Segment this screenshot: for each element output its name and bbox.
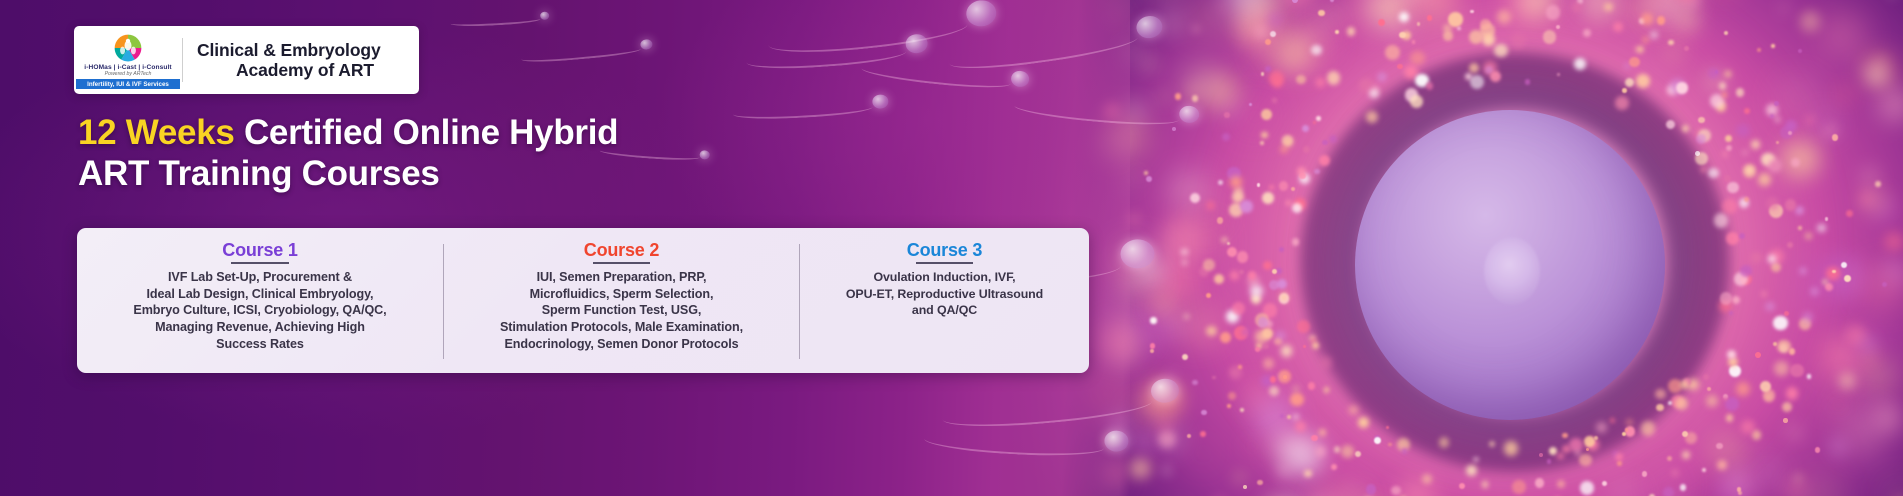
bokeh-dot	[1311, 45, 1322, 56]
bokeh-dot	[1427, 15, 1432, 20]
bokeh-dot	[1604, 3, 1612, 11]
bokeh-dot	[1283, 137, 1292, 146]
bokeh-dot	[1717, 460, 1727, 470]
bokeh-dot	[1162, 14, 1180, 32]
bokeh-dot	[1187, 86, 1199, 98]
bokeh-dot	[1330, 0, 1335, 2]
bokeh-dot	[1798, 226, 1802, 230]
bokeh-dot	[1798, 49, 1802, 53]
course-2-title: Course 2	[584, 240, 659, 264]
bokeh-dot	[1784, 311, 1789, 316]
bokeh-dot	[1682, 431, 1688, 437]
bokeh-dot	[1740, 265, 1752, 277]
bokeh-dot	[1270, 31, 1276, 37]
bokeh-dot	[1466, 465, 1478, 477]
bokeh-dot	[1782, 402, 1792, 412]
bokeh-dot	[1274, 338, 1281, 345]
bokeh-dot	[1835, 84, 1854, 103]
bokeh-dot	[1642, 36, 1649, 43]
bokeh-dot	[1297, 320, 1311, 334]
bokeh-dot	[1708, 168, 1719, 179]
bokeh-dot	[1378, 19, 1385, 26]
bokeh-dot	[1806, 116, 1814, 124]
bokeh-dot	[1358, 417, 1368, 427]
bokeh-dot	[1642, 471, 1647, 476]
bokeh-dot	[1228, 392, 1236, 400]
bokeh-dot	[1134, 434, 1150, 450]
bokeh-dot	[1878, 57, 1885, 64]
bokeh-dot	[1234, 472, 1245, 483]
course-3-title: Course 3	[907, 240, 982, 264]
bokeh-dot	[1293, 386, 1299, 392]
logo-services-bar: Infertility, IUI & IVF Services	[76, 79, 180, 89]
bokeh-dot	[1263, 358, 1274, 369]
bokeh-dot	[1469, 30, 1483, 44]
bokeh-dot	[1862, 168, 1878, 184]
bokeh-dot	[1682, 125, 1689, 132]
bokeh-dot	[1504, 441, 1519, 456]
bokeh-dot	[1255, 347, 1260, 352]
bokeh-dot	[1388, 443, 1392, 447]
bokeh-dot	[1546, 5, 1561, 20]
bokeh-dot	[1539, 453, 1543, 457]
bokeh-dot	[1153, 294, 1173, 314]
bokeh-dot	[1810, 287, 1819, 296]
headline-weeks: 12 Weeks	[78, 113, 235, 152]
bokeh-dot	[1374, 437, 1381, 444]
bokeh-dot	[1299, 173, 1306, 180]
bokeh-dot	[1651, 32, 1657, 38]
course-body-line: Stimulation Protocols, Male Examination,	[500, 319, 743, 336]
bokeh-dot	[1290, 393, 1303, 406]
bokeh-dot	[1703, 374, 1709, 380]
bokeh-dot	[1625, 428, 1629, 432]
bokeh-dot	[1641, 13, 1653, 25]
bokeh-dot	[1846, 210, 1853, 217]
bokeh-dot	[1269, 280, 1279, 290]
bokeh-dot	[1281, 345, 1293, 357]
bokeh-dot	[1720, 292, 1733, 305]
bokeh-dot	[1287, 415, 1291, 419]
bokeh-dot	[1410, 51, 1425, 66]
bokeh-dot	[1715, 70, 1718, 73]
bokeh-dot	[1861, 337, 1876, 352]
bokeh-dot	[1292, 238, 1300, 246]
bokeh-dot	[1832, 270, 1836, 274]
bokeh-dot	[1775, 117, 1780, 122]
bokeh-dot	[1262, 328, 1272, 338]
bokeh-dot	[1860, 192, 1874, 206]
bokeh-dot	[1655, 389, 1665, 399]
bokeh-dot	[1761, 291, 1767, 297]
bokeh-dot	[1482, 481, 1489, 488]
bokeh-dot	[1470, 75, 1485, 90]
bokeh-dot	[1489, 441, 1495, 447]
course-column-2[interactable]: Course 2 IUI, Semen Preparation, PRP,Mic…	[444, 228, 799, 373]
bokeh-dot	[1817, 224, 1826, 233]
course-body-line: Microfluidics, Sperm Selection,	[500, 286, 743, 303]
bokeh-dot	[1331, 464, 1337, 470]
bokeh-dot	[1402, 448, 1408, 454]
bokeh-dot	[1269, 185, 1274, 190]
bokeh-dot	[1295, 421, 1306, 432]
bokeh-dot	[1293, 414, 1299, 420]
bokeh-dot	[1158, 431, 1176, 449]
bokeh-dot	[1622, 432, 1626, 436]
bokeh-dot	[1736, 124, 1749, 137]
bokeh-dot	[1512, 480, 1526, 494]
bokeh-dot	[1834, 400, 1843, 409]
courses-panel: Course 1 IVF Lab Set-Up, Procurement &Id…	[77, 228, 1089, 373]
bokeh-dot	[1758, 173, 1771, 186]
bokeh-dot	[1702, 468, 1706, 472]
bokeh-dot	[1676, 82, 1688, 94]
bokeh-dot	[1159, 421, 1171, 433]
bokeh-dot	[1696, 134, 1706, 144]
logo-title-line1: Clinical & Embryology	[197, 40, 419, 60]
bokeh-dot	[1469, 63, 1479, 73]
bokeh-dot	[1575, 450, 1581, 456]
bokeh-dot	[1727, 182, 1739, 194]
bokeh-dot	[1755, 352, 1761, 358]
course-body-line: Embryo Culture, ICSI, Cryobiology, QA/QC…	[133, 302, 386, 319]
bokeh-dot	[1272, 98, 1277, 103]
bokeh-dot	[1410, 95, 1423, 108]
bokeh-dot	[1773, 342, 1777, 346]
bokeh-dot	[1399, 12, 1409, 22]
bokeh-dot	[1240, 408, 1245, 413]
bokeh-dot	[1386, 426, 1389, 429]
bokeh-dot	[1227, 247, 1237, 257]
bokeh-dot	[1399, 32, 1406, 39]
bokeh-dot	[1283, 375, 1287, 379]
bokeh-dot	[1261, 132, 1268, 139]
headline-hybrid: Hybrid	[509, 113, 618, 152]
bokeh-dot	[1684, 46, 1689, 51]
bokeh-dot	[1480, 19, 1490, 29]
bokeh-dot	[1844, 275, 1851, 282]
bokeh-dot	[1774, 361, 1789, 376]
course-body-line: OPU-ET, Reproductive Ultrasound	[846, 286, 1043, 303]
globe-people-icon	[111, 33, 145, 63]
bokeh-dot	[1167, 313, 1187, 333]
bokeh-dot	[1525, 79, 1531, 85]
bokeh-dot	[1622, 88, 1627, 93]
bokeh-dot	[1773, 316, 1788, 331]
bokeh-dot	[1610, 418, 1615, 423]
bokeh-dot	[1826, 267, 1840, 281]
bokeh-dot	[1706, 395, 1718, 407]
bokeh-dot	[1182, 260, 1187, 265]
bokeh-dot	[1572, 2, 1582, 12]
bokeh-dot	[1791, 158, 1800, 167]
bokeh-dot	[1218, 180, 1223, 185]
bokeh-dot	[1391, 486, 1401, 496]
course-2-body: IUI, Semen Preparation, PRP,Microfluidic…	[500, 269, 743, 353]
bokeh-dot	[1144, 171, 1148, 175]
bokeh-dot	[1459, 483, 1465, 489]
bokeh-dot	[1822, 279, 1828, 285]
bokeh-dot	[1355, 451, 1361, 457]
bokeh-dot	[1187, 434, 1191, 438]
bokeh-dot	[1586, 448, 1589, 451]
bokeh-dot	[1770, 114, 1774, 118]
bokeh-dot	[1866, 64, 1887, 85]
bokeh-dot	[1292, 203, 1302, 213]
bokeh-dot	[1280, 293, 1288, 301]
bokeh-dot	[1636, 74, 1650, 88]
bokeh-dot	[1323, 5, 1341, 23]
bokeh-dot	[1263, 261, 1272, 270]
bokeh-dot	[1615, 96, 1629, 110]
bokeh-dot	[1707, 387, 1711, 391]
bokeh-dot	[1738, 491, 1742, 495]
bokeh-dot	[1795, 206, 1804, 215]
bokeh-dot	[1412, 40, 1416, 44]
bokeh-dot	[1656, 404, 1663, 411]
course-body-line: Endocrinology, Semen Donor Protocols	[500, 336, 743, 353]
bokeh-dot	[1181, 249, 1187, 255]
bokeh-dot	[1884, 232, 1903, 252]
bokeh-dot	[1249, 103, 1252, 106]
bokeh-dot	[1417, 22, 1421, 26]
bokeh-dot	[1292, 0, 1299, 3]
bokeh-dot	[1636, 46, 1643, 53]
bokeh-dot	[1470, 10, 1473, 13]
bokeh-dot	[1240, 200, 1253, 213]
bokeh-dot	[1682, 0, 1702, 9]
bokeh-dot	[1285, 200, 1292, 207]
bokeh-dot	[1757, 465, 1777, 485]
bokeh-dot	[1239, 23, 1246, 30]
bokeh-dot	[1315, 446, 1326, 457]
bokeh-dot	[1341, 445, 1354, 458]
bokeh-dot	[1725, 135, 1732, 142]
bokeh-dot	[1308, 382, 1315, 389]
headline: 12 Weeks Certified Online Hybrid ART Tra…	[78, 113, 838, 194]
bokeh-dot	[1802, 312, 1813, 323]
bokeh-dot	[1257, 183, 1261, 187]
bokeh-dot	[1227, 404, 1231, 408]
bokeh-dot	[1729, 472, 1747, 490]
bokeh-dot	[1473, 457, 1479, 463]
bokeh-dot	[1535, 478, 1544, 487]
bokeh-dot	[1751, 140, 1760, 149]
bokeh-dot	[1866, 354, 1876, 364]
bokeh-dot	[1232, 302, 1245, 315]
bokeh-dot	[1291, 187, 1295, 191]
bokeh-dot	[1556, 25, 1560, 29]
bokeh-dot	[1716, 443, 1723, 450]
bokeh-dot	[1190, 193, 1200, 203]
bokeh-dot	[1279, 181, 1288, 190]
bokeh-dot	[1280, 146, 1288, 154]
bokeh-dot	[1698, 117, 1705, 124]
bokeh-dot	[1613, 22, 1623, 32]
bokeh-dot	[1815, 447, 1821, 453]
bokeh-dot	[1726, 145, 1732, 151]
bokeh-dot	[1729, 311, 1734, 316]
bokeh-dot	[1719, 82, 1726, 89]
bokeh-dot	[1626, 419, 1633, 426]
bokeh-dot	[1799, 267, 1807, 275]
course-body-line: IUI, Semen Preparation, PRP,	[500, 269, 743, 286]
bokeh-dot	[1200, 431, 1206, 437]
bokeh-dot	[1771, 263, 1781, 273]
bokeh-dot	[1397, 64, 1403, 70]
bokeh-dot	[1247, 441, 1257, 451]
logo-brands: i-HOMas | i-Cast | i-Consult	[84, 64, 171, 71]
course-column-3[interactable]: Course 3 Ovulation Induction, IVF,OPU-ET…	[800, 228, 1089, 373]
bokeh-dot	[1319, 155, 1330, 166]
bokeh-dot	[1722, 92, 1727, 97]
bokeh-dot	[1726, 414, 1734, 422]
bokeh-dot	[1385, 45, 1400, 60]
bokeh-dot	[1260, 141, 1264, 145]
bokeh-dot	[1150, 317, 1156, 323]
bokeh-dot	[1657, 16, 1665, 24]
bokeh-dot	[1786, 387, 1798, 399]
bokeh-dot	[1242, 328, 1250, 336]
bokeh-dot	[1237, 251, 1249, 263]
course-column-1[interactable]: Course 1 IVF Lab Set-Up, Procurement &Id…	[77, 228, 443, 373]
bokeh-dot	[1745, 166, 1754, 175]
headline-certified-online: Certified Online	[235, 113, 510, 152]
course-body-line: Success Rates	[133, 336, 386, 353]
bokeh-dot	[1602, 481, 1607, 486]
bokeh-dot	[1212, 376, 1215, 379]
bokeh-dot	[1722, 151, 1728, 157]
bokeh-dot	[1327, 71, 1341, 85]
bokeh-dot	[1222, 133, 1230, 141]
bokeh-dot	[1723, 397, 1727, 401]
bokeh-dot	[1617, 461, 1622, 466]
bokeh-dot	[1273, 78, 1282, 87]
bokeh-dot	[1258, 317, 1269, 328]
bokeh-dot	[1311, 435, 1318, 442]
bokeh-dot	[1314, 169, 1320, 175]
bokeh-dot	[1667, 456, 1672, 461]
bokeh-dot	[1278, 466, 1289, 477]
bokeh-dot	[1263, 344, 1269, 350]
bokeh-dot	[1443, 31, 1453, 41]
bokeh-dot	[1787, 242, 1793, 248]
bokeh-dot	[1192, 380, 1198, 386]
bokeh-dot	[1543, 30, 1557, 44]
bokeh-dot	[1741, 420, 1755, 434]
bokeh-dot	[1800, 11, 1821, 32]
bokeh-dot	[1319, 429, 1326, 436]
bokeh-dot	[1248, 271, 1256, 279]
bokeh-dot	[1201, 410, 1206, 415]
course-1-body: IVF Lab Set-Up, Procurement &Ideal Lab D…	[133, 269, 386, 353]
bokeh-dot	[1324, 387, 1329, 392]
bokeh-dot	[1807, 374, 1812, 379]
bokeh-dot	[1739, 233, 1745, 239]
bokeh-dot	[1580, 481, 1594, 495]
bokeh-dot	[1744, 108, 1750, 114]
bokeh-dot	[1511, 33, 1526, 48]
bokeh-dot	[1239, 270, 1244, 275]
bokeh-dot	[1280, 414, 1284, 418]
bokeh-dot	[1795, 475, 1801, 481]
bokeh-dot	[1238, 365, 1242, 369]
bokeh-dot	[1776, 141, 1779, 144]
bokeh-dot	[1426, 82, 1434, 90]
bokeh-dot	[1349, 406, 1358, 415]
bokeh-dot	[1320, 356, 1333, 369]
bokeh-dot	[1789, 348, 1796, 355]
bokeh-dot	[1366, 111, 1378, 123]
bokeh-dot	[1675, 397, 1689, 411]
bokeh-dot	[1724, 175, 1731, 182]
bokeh-dot	[1562, 433, 1567, 438]
bokeh-dot	[1366, 484, 1377, 495]
logo-mark-block: i-HOMas | i-Cast | i-Consult Powered by …	[74, 26, 182, 94]
bokeh-dot	[1279, 247, 1285, 253]
bokeh-dot	[1145, 59, 1155, 69]
bokeh-dot	[1369, 89, 1378, 98]
headline-line-2: ART Training Courses	[78, 154, 838, 195]
bokeh-dot	[1547, 459, 1551, 463]
bokeh-dot	[1303, 146, 1310, 153]
bokeh-dot	[1750, 252, 1762, 264]
bokeh-dot	[1261, 109, 1272, 120]
bokeh-dot	[1841, 262, 1848, 269]
bokeh-dot	[1218, 4, 1225, 11]
bokeh-dot	[1335, 30, 1339, 34]
bokeh-dot	[1774, 101, 1779, 106]
bokeh-dot	[1714, 213, 1729, 228]
bokeh-dot	[1159, 93, 1167, 101]
course-body-line: and QA/QC	[846, 302, 1043, 319]
bokeh-dot	[1254, 25, 1268, 39]
bokeh-dot	[1250, 285, 1263, 298]
course-body-line: Ideal Lab Design, Clinical Embryology,	[133, 286, 386, 303]
bokeh-dot	[1666, 120, 1675, 129]
bokeh-dot	[1783, 418, 1788, 423]
logo-card[interactable]: i-HOMas | i-Cast | i-Consult Powered by …	[74, 26, 419, 94]
bokeh-dot	[1243, 485, 1247, 489]
bokeh-dot	[1262, 192, 1274, 204]
course-body-line: Ovulation Induction, IVF,	[846, 269, 1043, 286]
bokeh-dot	[1780, 4, 1788, 12]
bokeh-dot	[1596, 422, 1607, 433]
bokeh-dot	[1668, 401, 1672, 405]
bokeh-dot	[1785, 424, 1803, 442]
bokeh-dot	[1663, 487, 1674, 496]
bokeh-dot	[1790, 364, 1804, 378]
bokeh-dot	[1303, 345, 1306, 348]
bokeh-dot	[1257, 480, 1262, 485]
bokeh-dot	[1825, 217, 1828, 220]
bokeh-dot	[1296, 75, 1306, 85]
bokeh-dot	[1312, 342, 1319, 349]
bokeh-dot	[1668, 40, 1674, 46]
bokeh-dot	[1270, 376, 1276, 382]
bokeh-dot	[1732, 296, 1740, 304]
bokeh-dot	[1316, 78, 1325, 87]
course-body-line: IVF Lab Set-Up, Procurement &	[133, 269, 386, 286]
bokeh-dot	[1557, 480, 1565, 488]
bokeh-dot	[1736, 382, 1750, 396]
bokeh-dot	[1839, 373, 1856, 390]
bokeh-dot	[1322, 140, 1327, 145]
bokeh-dot	[1583, 29, 1591, 37]
bokeh-dot	[1771, 44, 1776, 49]
bokeh-dot	[1725, 71, 1731, 77]
bokeh-dot	[1377, 72, 1387, 82]
